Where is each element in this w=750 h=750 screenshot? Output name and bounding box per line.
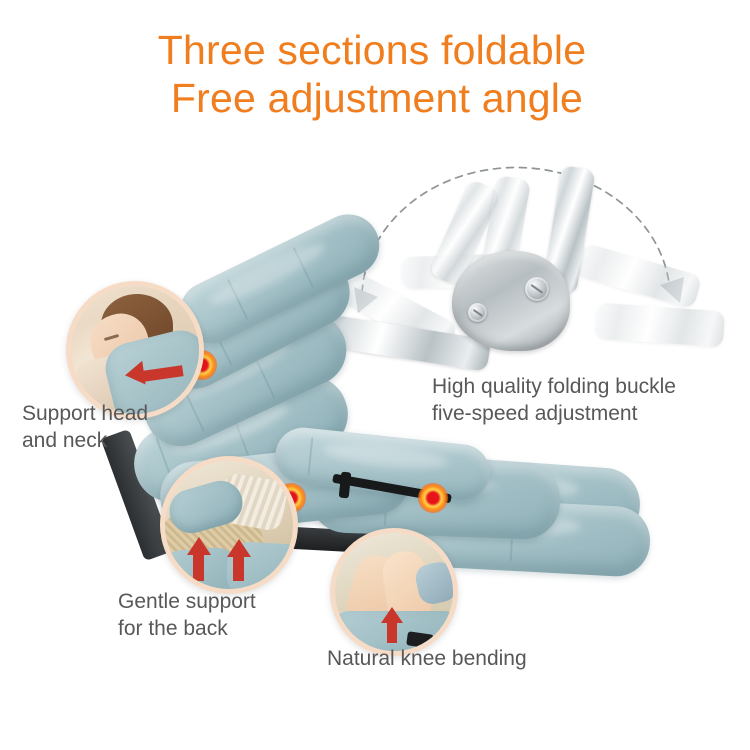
page-title: Three sections foldable Free adjustment … [0,26,750,122]
infographic-canvas: Three sections foldable Free adjustment … [0,0,750,750]
headline-line-2: Free adjustment angle [0,74,750,122]
caption-head-neck-line-1: Support head [22,400,148,427]
arrow-up-shaft-1 [193,551,204,581]
arrow-up-head-knee [381,607,403,623]
caption-back-line-1: Gentle support [118,588,256,615]
arrow-up-head-1 [187,537,211,555]
caption-back-support: Gentle support for the back [118,588,256,642]
inset-photo-knee-bending [330,528,458,656]
caption-head-neck: Support head and neck [22,400,148,454]
caption-head-neck-line-2: and neck [22,427,148,454]
caption-knee-bending: Natural knee bending [327,645,527,672]
caption-knee-line-1: Natural knee bending [327,645,527,672]
caption-buckle-line-1: High quality folding buckle [432,373,676,400]
headline-line-1: Three sections foldable [0,26,750,74]
arrow-up-shaft-2 [233,553,244,581]
arrow-up-head-2 [227,539,251,557]
hotspot-marker-leg [418,483,448,513]
caption-back-line-2: for the back [118,615,256,642]
inset-photo-head-neck [66,281,204,419]
caption-buckle-line-2: five-speed adjustment [432,400,676,427]
caption-buckle: High quality folding buckle five-speed a… [432,373,676,427]
arrow-left-head [123,361,145,387]
inset-photo-back-support [160,456,298,594]
